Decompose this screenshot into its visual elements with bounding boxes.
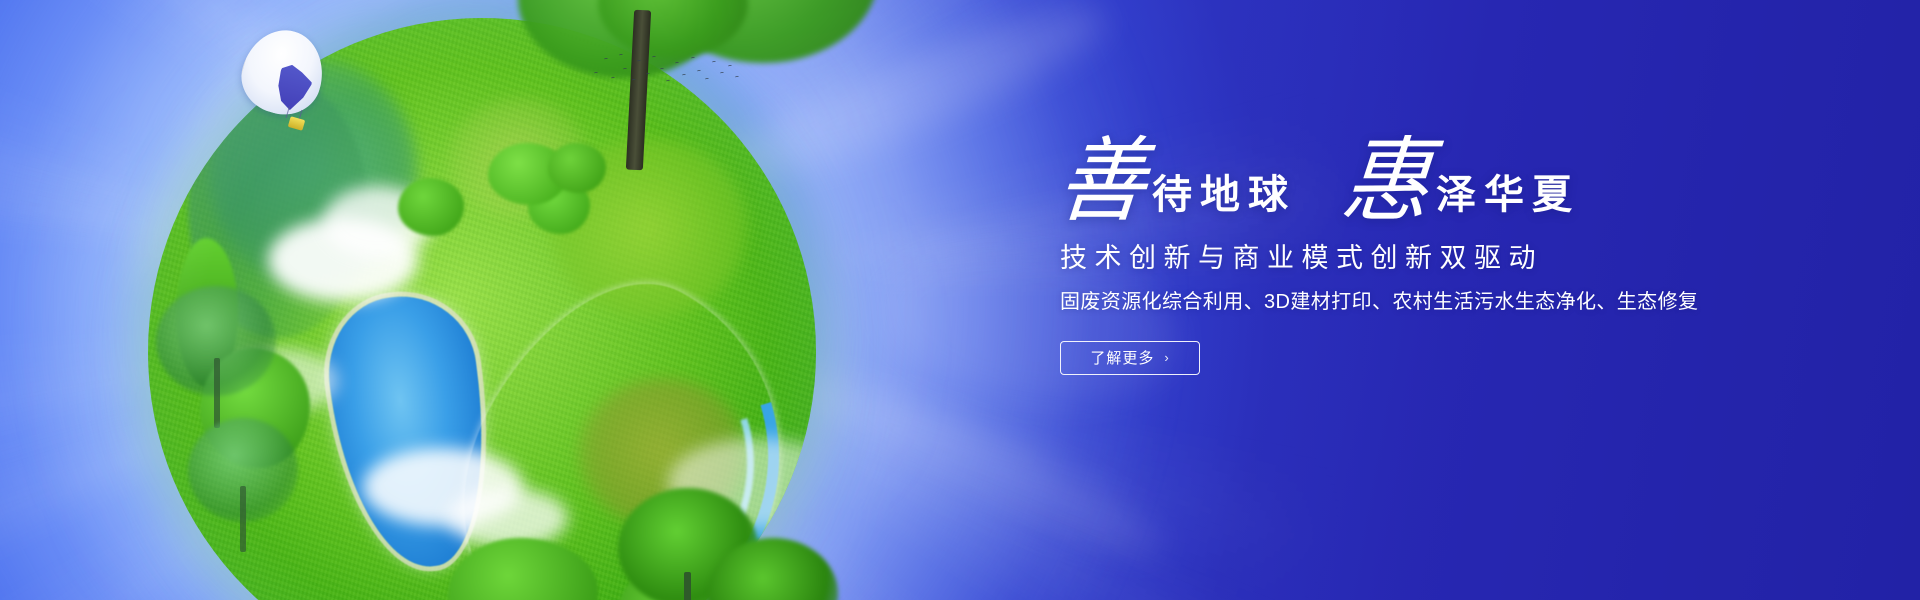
page-title: 善 待地球 惠 泽华夏: [1058, 128, 1698, 224]
headline-phrase-2: 惠 泽华夏: [1342, 143, 1580, 224]
headline-rest-2: 泽华夏: [1436, 175, 1580, 224]
learn-more-button[interactable]: 了解更多 ›: [1060, 341, 1200, 375]
headline-lead-char-2: 惠: [1338, 141, 1433, 226]
headline-rest-1: 待地球: [1152, 175, 1296, 224]
hero-subtitle: 技术创新与商业模式创新双驱动: [1060, 242, 1698, 274]
headline-phrase-1: 善 待地球: [1058, 143, 1296, 224]
learn-more-label: 了解更多: [1090, 351, 1154, 366]
hero-banner: 善 待地球 惠 泽华夏 技术创新与商业模式创新双驱动 固废资源化综合利用、3D建…: [0, 0, 1920, 600]
hero-description: 固废资源化综合利用、3D建材打印、农村生活污水生态净化、生态修复: [1060, 289, 1698, 315]
headline-lead-char-1: 善: [1054, 141, 1149, 226]
hero-copy-block: 善 待地球 惠 泽华夏 技术创新与商业模式创新双驱动 固废资源化综合利用、3D建…: [1058, 128, 1698, 375]
chevron-right-icon: ›: [1164, 351, 1169, 364]
